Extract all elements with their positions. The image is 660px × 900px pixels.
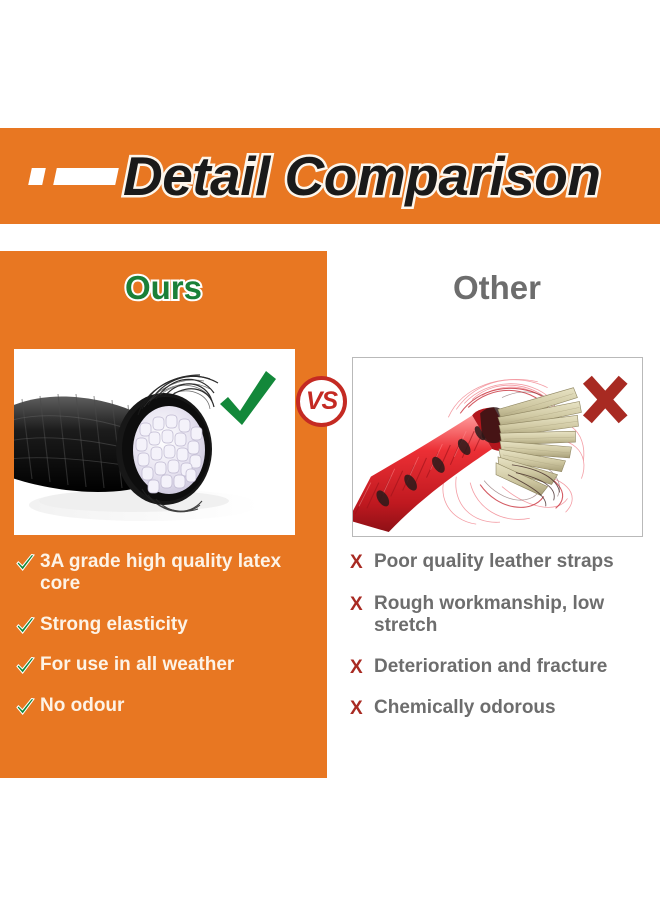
bullet-text: Strong elasticity	[40, 614, 188, 636]
bullet-text: For use in all weather	[40, 654, 234, 676]
check-icon	[16, 551, 40, 573]
page-title: Detail Comparison	[123, 149, 600, 204]
frayed-red-bungee-cord-photo	[353, 358, 642, 536]
comparison-area: Ours	[0, 224, 660, 900]
heading-other: Other	[334, 271, 660, 304]
check-icon	[16, 614, 40, 636]
bullet-item-other: X Poor quality leather straps	[350, 551, 652, 575]
header-band: Detail Comparison	[0, 128, 660, 224]
bullet-item-other: X Deterioration and fracture	[350, 656, 652, 680]
bullet-text: 3A grade high quality latex core	[40, 551, 315, 596]
photo-ours	[14, 349, 295, 535]
panel-ours: Ours	[0, 251, 327, 778]
black-bungee-cord-cross-section-photo	[14, 349, 295, 535]
bullet-list-other: X Poor quality leather straps X Rough wo…	[334, 551, 660, 739]
dash-accent-icon	[28, 168, 119, 185]
bullet-text: Poor quality leather straps	[374, 551, 614, 573]
x-icon: X	[350, 593, 374, 617]
bullet-item-other: X Chemically odorous	[350, 697, 652, 721]
bullet-text: Rough workmanship, low stretch	[374, 593, 652, 638]
bullet-text: Deterioration and fracture	[374, 656, 607, 678]
check-icon	[16, 695, 40, 717]
bullet-list-ours: 3A grade high quality latex core Strong …	[0, 551, 327, 735]
check-icon	[16, 654, 40, 676]
bullet-item-ours: Strong elasticity	[16, 614, 315, 636]
bullet-text: No odour	[40, 695, 124, 717]
bullet-item-ours: 3A grade high quality latex core	[16, 551, 315, 596]
bullet-item-other: X Rough workmanship, low stretch	[350, 593, 652, 638]
x-icon: X	[350, 656, 374, 680]
bullet-item-ours: No odour	[16, 695, 315, 717]
panel-other: Other	[334, 251, 660, 778]
accent-square-icon	[28, 168, 46, 185]
accent-bar-icon	[53, 168, 119, 185]
heading-ours: Ours	[0, 271, 327, 304]
bullet-item-ours: For use in all weather	[16, 654, 315, 676]
x-icon: X	[350, 697, 374, 721]
bullet-text: Chemically odorous	[374, 697, 556, 719]
photo-other	[352, 357, 643, 537]
versus-label: VS	[306, 389, 337, 414]
x-icon: X	[350, 551, 374, 575]
versus-badge: VS	[296, 376, 347, 427]
